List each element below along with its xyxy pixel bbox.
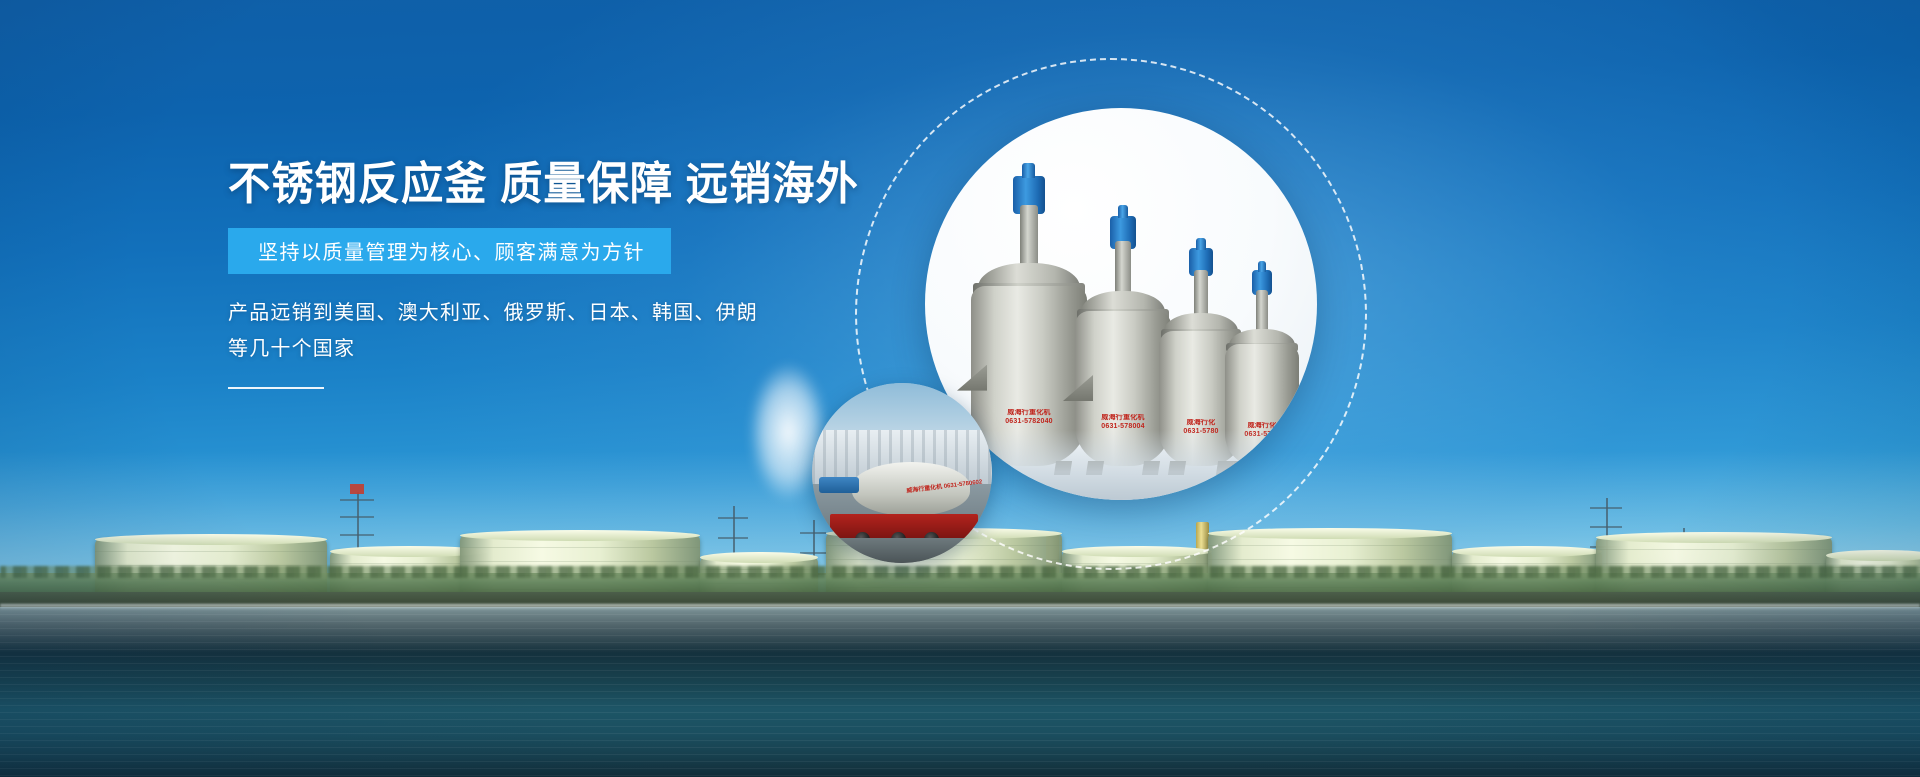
banner-headline: 不锈钢反应釜 质量保障 远销海外	[228, 160, 924, 207]
inset-photo-bubble: 威海行重化机 0631-5780602	[812, 383, 992, 563]
inset-reactor-tank: 威海行重化机 0631-5780602	[852, 462, 971, 516]
banner-description-line-2: 等几十个国家	[228, 332, 968, 368]
inset-tank-label: 威海行重化机 0631-5780602	[906, 476, 983, 494]
reactor-vessel: 威海行重化机 0631-578004	[1075, 216, 1171, 466]
inset-drive-motor	[819, 477, 859, 493]
decorative-divider	[228, 387, 324, 389]
banner-description: 产品远销到美国、澳大利亚、俄罗斯、日本、韩国、伊朗 等几十个国家	[228, 296, 968, 367]
reactor-label: 威海行重化机 0631-5782040	[987, 409, 1071, 427]
banner-subtitle-bar: 坚持以质量管理为核心、顾客满意为方针	[228, 228, 671, 274]
hero-banner: 威海行重化机 0631-5782040 威海行重化机 0631-578004	[0, 0, 1920, 777]
banner-description-line-1: 产品远销到美国、澳大利亚、俄罗斯、日本、韩国、伊朗	[228, 296, 968, 332]
banner-copy: 不锈钢反应釜 质量保障 远销海外 坚持以质量管理为核心、顾客满意为方针 产品远销…	[228, 160, 968, 389]
inset-ground	[812, 538, 992, 563]
